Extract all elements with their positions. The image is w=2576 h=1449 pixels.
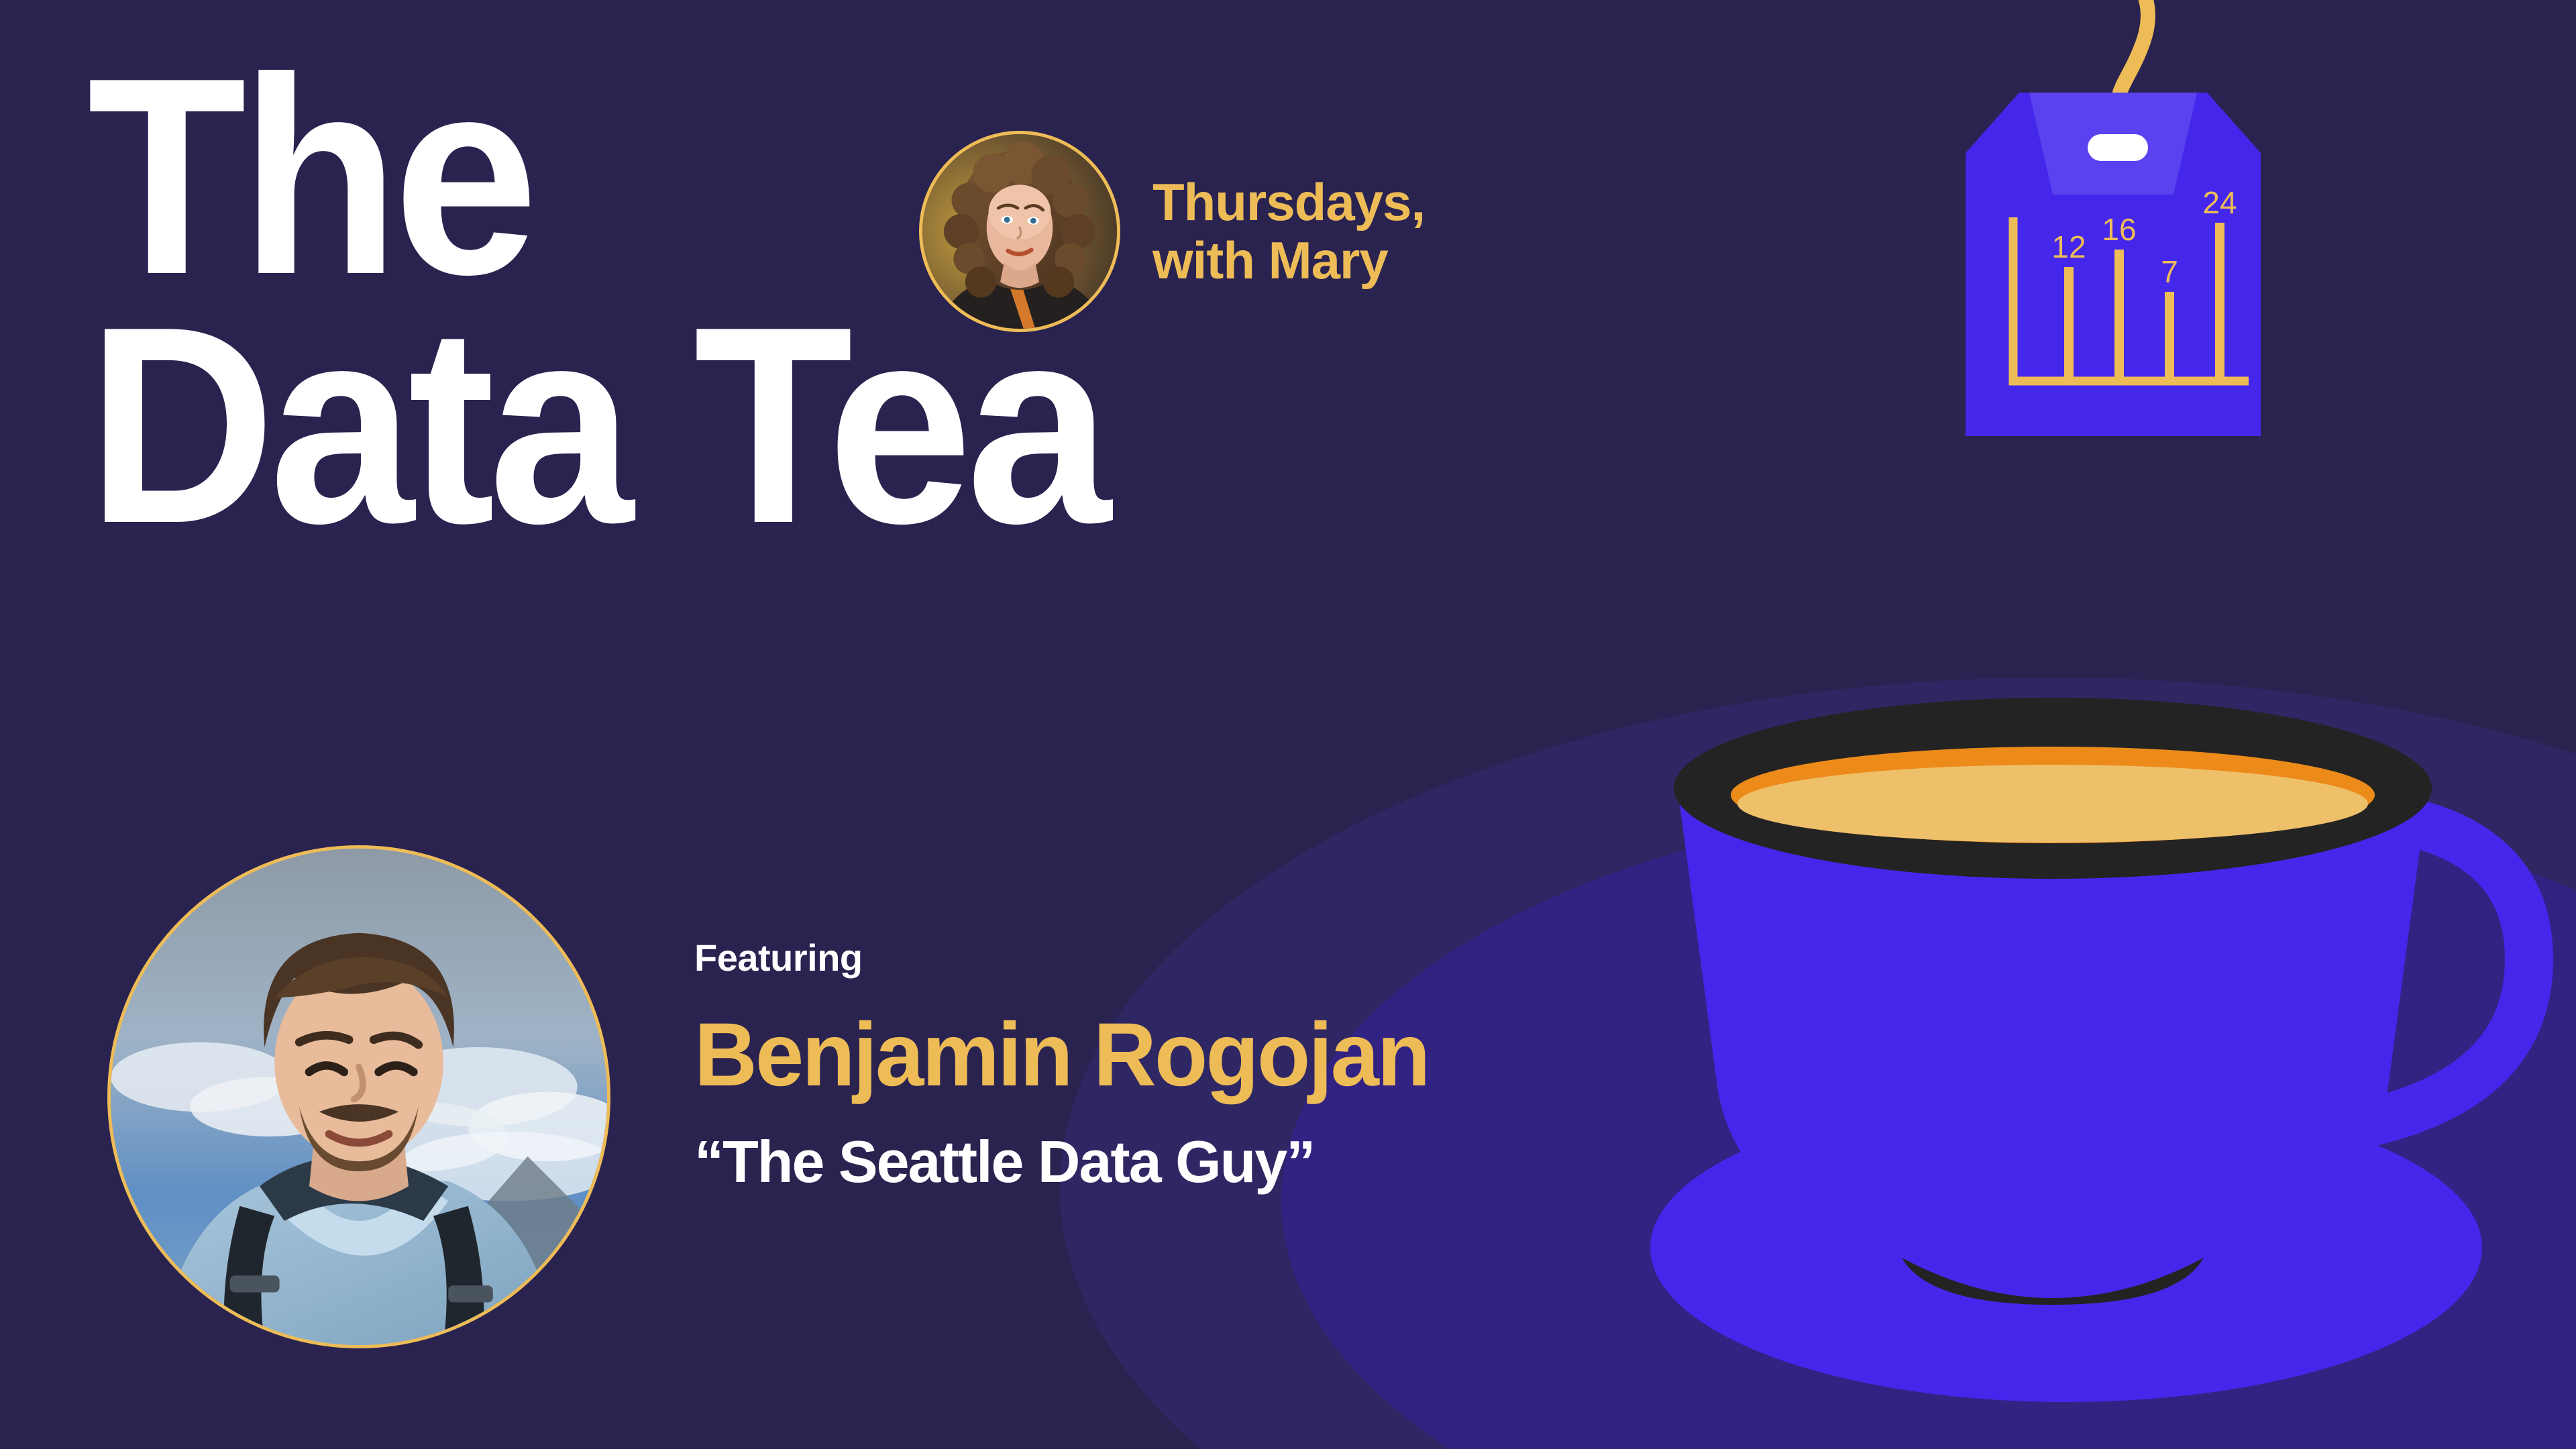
teabag-staple (2088, 134, 2148, 161)
teabag-graphic: 12 16 7 24 (1905, 0, 2321, 604)
teabag: 12 16 7 24 (1905, 0, 2321, 604)
title-line-2: Data Tea (87, 309, 1105, 542)
guest-portrait-illustration (111, 849, 607, 1345)
guest-name: Benjamin Rogojan (694, 1010, 1428, 1100)
benjamin-rogojan-avatar (107, 845, 610, 1348)
chart-bar-1 (2114, 250, 2124, 381)
chart-bar-0 (2064, 267, 2074, 381)
guest-nickname: “The Seattle Data Guy” (694, 1132, 1451, 1191)
host-schedule-text: Thursdays, with Mary (1152, 173, 1425, 290)
tea-liquid (1737, 765, 2368, 843)
chart-label-1: 16 (2102, 212, 2136, 247)
teabag-string (2120, 0, 2148, 93)
chart-bar-3 (2215, 223, 2224, 381)
mary-host-avatar (919, 131, 1120, 332)
teacup-graphic (1597, 657, 2576, 1449)
promo-banner: The Data Tea (0, 0, 2576, 1449)
chart-label-0: 12 (2051, 229, 2086, 264)
featuring-label: Featuring (694, 936, 1451, 979)
host-badge: Thursdays, with Mary (919, 131, 1425, 332)
guest-info: Featuring Benjamin Rogojan “The Seattle … (694, 936, 1451, 1191)
chart-label-3: 24 (2202, 185, 2237, 220)
chart-label-2: 7 (2161, 254, 2178, 289)
mary-portrait-illustration (922, 134, 1117, 329)
teacup (1597, 657, 2576, 1449)
chart-bar-2 (2165, 292, 2174, 381)
